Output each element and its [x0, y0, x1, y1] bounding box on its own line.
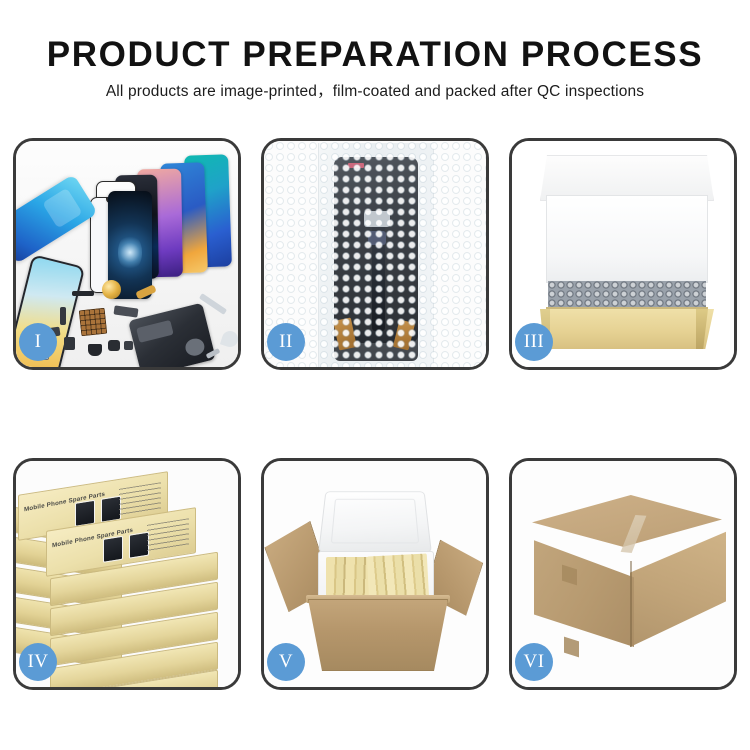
page-subtitle: All products are image-printed，film-coat…	[0, 82, 750, 102]
step-badge-1: I	[19, 323, 57, 361]
part-sensor-icon	[124, 341, 133, 350]
copper-pad-icon	[79, 308, 108, 337]
part-ribbon-icon	[113, 305, 138, 317]
step-panel-3: III	[509, 138, 737, 370]
box-lid-window-icon	[103, 536, 123, 563]
step-badge-3: III	[515, 323, 553, 361]
step-badge-5: V	[267, 643, 305, 681]
carton-corner-edge-icon	[630, 561, 632, 647]
carton-front-face-icon	[534, 531, 634, 647]
step-panel-4: Mobile Phone Spare Parts Mobile Phone Sp…	[13, 458, 241, 690]
step-badge-4: IV	[19, 643, 57, 681]
phone-back-cover-icon	[128, 303, 216, 367]
carton-side-face-icon	[630, 527, 726, 647]
page-title: PRODUCT PREPARATION PROCESS	[0, 34, 750, 76]
step-badge-6: VI	[515, 643, 553, 681]
step-panel-1: I	[13, 138, 241, 370]
gold-box-tray-icon	[540, 309, 714, 349]
header: PRODUCT PREPARATION PROCESS All products…	[0, 34, 750, 102]
product-preparation-infographic: PRODUCT PREPARATION PROCESS All products…	[0, 0, 750, 750]
step-panel-5: V	[261, 458, 489, 690]
part-button-icon	[108, 340, 120, 351]
part-tool-icon	[220, 329, 238, 349]
part-camera-icon	[88, 344, 102, 356]
speaker-module-icon	[102, 280, 121, 299]
foam-lid-icon	[318, 491, 432, 552]
step-panel-6: VI	[509, 458, 737, 690]
carton-handle-tab-icon	[564, 637, 579, 658]
box-lid-window-icon	[129, 532, 149, 559]
phone-screen-blue-tilted-icon	[16, 174, 98, 264]
part-connector-icon	[64, 337, 75, 350]
process-steps-grid: I II	[13, 138, 737, 690]
step-panel-2: II	[261, 138, 489, 370]
part-antenna-icon	[60, 307, 66, 325]
carton-body-icon	[308, 599, 448, 671]
box-lid-spec-lines-icon	[119, 482, 161, 517]
box-lid-spec-lines-icon	[147, 518, 189, 553]
foam-sheet-icon	[546, 195, 708, 283]
step-badge-2: II	[267, 323, 305, 361]
part-chip-icon	[72, 291, 94, 296]
